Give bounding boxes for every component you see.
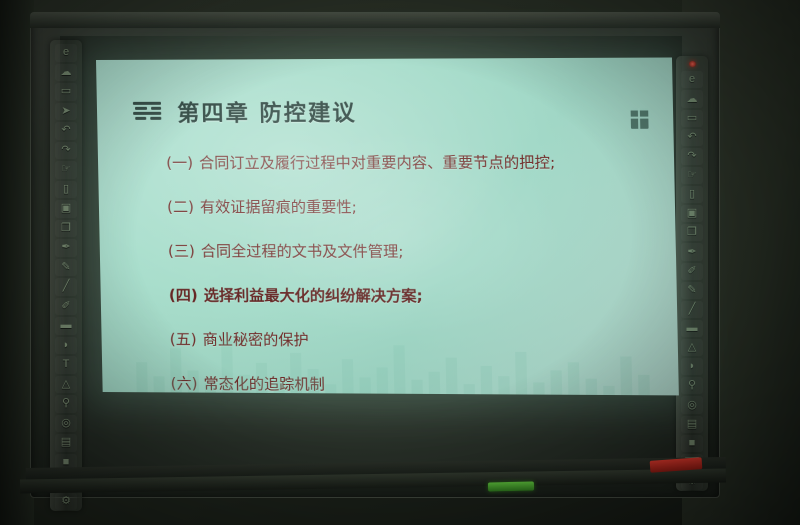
image-frame-icon[interactable]: ▣ (681, 205, 703, 222)
slide-bullet: (二)有效证据留痕的重要性; (167, 196, 655, 217)
curtain-icon[interactable]: ▤ (681, 416, 703, 433)
spotlight-icon[interactable]: ◎ (55, 415, 77, 433)
redo-arrow-icon[interactable]: ↷ (55, 142, 77, 160)
bullet-text: 有效证据留痕的重要性; (200, 196, 357, 217)
bars-mark-icon (133, 101, 164, 123)
seal-stamp-icon (631, 108, 649, 128)
screenshot-icon[interactable]: ❐ (55, 220, 77, 238)
magnifier-icon[interactable]: ⚲ (55, 395, 77, 413)
skyline-bar (429, 372, 441, 394)
skyline-bar (136, 362, 148, 392)
skyline-bar (256, 363, 268, 393)
projected-slide-area: 第四章 防控建议 (一)合同订立及履行过程中对重要内容、重要节点的把控;(二)有… (96, 57, 679, 395)
highlighter-icon[interactable]: ╱ (681, 301, 703, 318)
skyline-bar (153, 376, 164, 392)
skyline-bar (481, 366, 493, 394)
slide-bullet: (一)合同订立及履行过程中对重要内容、重要节点的把控; (166, 151, 654, 173)
settings-gear-icon[interactable]: ⚙ (55, 493, 77, 511)
skyline-bar (325, 384, 336, 393)
bullet-text: 合同全过程的文书及文件管理; (201, 240, 404, 261)
slide-title-row: 第四章 防控建议 (133, 95, 357, 128)
skyline-bar (359, 377, 371, 393)
folder-icon[interactable]: ▭ (55, 83, 77, 101)
skyline-bar (533, 382, 545, 394)
skyline-bar (638, 375, 650, 395)
skyline-bar (446, 358, 458, 394)
power-led-indicator (689, 61, 696, 67)
skyline-bar (411, 380, 423, 394)
paint-bucket-icon[interactable]: ◗ (681, 358, 703, 375)
skyline-bar (620, 356, 632, 395)
skyline-bar (308, 369, 320, 393)
whiteboard-frame-top (30, 12, 720, 28)
shapes-icon[interactable]: △ (681, 339, 703, 356)
slide-bullet: (三)合同全过程的文书及文件管理; (168, 240, 656, 262)
skyline-bar (376, 367, 388, 393)
room-wall-left (0, 0, 34, 525)
skyline-bar (464, 384, 475, 394)
magnifier-icon[interactable]: ⚲ (681, 377, 703, 394)
hand-pointer-icon[interactable]: ☞ (681, 167, 703, 184)
eraser-icon[interactable]: ▬ (681, 320, 703, 337)
skyline-bar (586, 379, 598, 395)
skyline-bar (221, 341, 233, 393)
classroom-whiteboard-scene: e☁▭➤↶↷☞▯▣❐✒✎╱✐▬◗T△⚲◎▤■⌨⚙ e☁▭↶↷☞▯▣❐✒✐✎╱▬△… (0, 0, 800, 525)
slide-title: 第四章 防控建议 (177, 95, 357, 128)
undo-arrow-icon[interactable]: ↶ (681, 129, 703, 146)
bullet-index: (一) (166, 152, 193, 173)
right-icon-toolbar[interactable]: e☁▭↶↷☞▯▣❐✒✐✎╱▬△◗⚲◎▤■⌨⚙ (676, 56, 708, 491)
skyline-bar (205, 384, 216, 393)
undo-arrow-icon[interactable]: ↶ (55, 122, 77, 140)
page-icon[interactable]: ▯ (681, 186, 703, 203)
skyline-bar (568, 362, 580, 395)
bullet-index: (四) (169, 284, 198, 305)
pen-icon[interactable]: ✒ (681, 243, 703, 260)
screenshot-icon[interactable]: ❐ (681, 224, 703, 241)
cloud-upload-icon[interactable]: ☁ (55, 64, 77, 82)
city-skyline-watermark (135, 330, 666, 395)
image-frame-icon[interactable]: ▣ (55, 200, 77, 218)
spotlight-icon[interactable]: ◎ (681, 396, 703, 413)
highlighter-icon[interactable]: ╱ (55, 278, 77, 296)
bullet-index: (二) (167, 196, 194, 217)
shapes-icon[interactable]: △ (55, 376, 77, 394)
paint-bucket-icon[interactable]: ◗ (55, 337, 77, 355)
bullet-text: 选择利益最大化的纠纷解决方案; (204, 284, 423, 306)
skyline-bar (603, 386, 615, 395)
mouse-cursor-icon[interactable]: ➤ (55, 103, 77, 121)
skyline-bar (239, 375, 250, 393)
presentation-slide: 第四章 防控建议 (一)合同订立及履行过程中对重要内容、重要节点的把控;(二)有… (96, 57, 679, 395)
browser-e-icon[interactable]: e (681, 71, 703, 88)
skyline-bar (498, 376, 510, 394)
skyline-bar (273, 381, 284, 393)
skyline-bar (290, 353, 302, 393)
left-icon-toolbar[interactable]: e☁▭➤↶↷☞▯▣❐✒✎╱✐▬◗T△⚲◎▤■⌨⚙ (50, 40, 82, 511)
cloud-upload-icon[interactable]: ☁ (681, 90, 703, 107)
skyline-bar (187, 370, 199, 392)
skyline-bar (550, 370, 562, 394)
skyline-bar (342, 359, 354, 393)
pencil-icon[interactable]: ✎ (681, 282, 703, 299)
skyline-bar (170, 348, 182, 392)
text-tool-icon[interactable]: T (55, 356, 77, 374)
green-marker[interactable] (488, 482, 534, 492)
camera-icon[interactable]: ■ (681, 435, 703, 452)
browser-e-icon[interactable]: e (55, 44, 77, 62)
skyline-bar (393, 345, 405, 394)
brush-icon[interactable]: ✐ (681, 263, 703, 280)
redo-arrow-icon[interactable]: ↷ (681, 148, 703, 165)
pen-icon[interactable]: ✒ (55, 239, 77, 257)
brush-icon[interactable]: ✐ (55, 298, 77, 316)
hand-pointer-icon[interactable]: ☞ (55, 161, 77, 179)
page-icon[interactable]: ▯ (55, 181, 77, 199)
curtain-icon[interactable]: ▤ (55, 434, 77, 452)
folder-icon[interactable]: ▭ (681, 110, 703, 127)
eraser-icon[interactable]: ▬ (55, 317, 77, 335)
pencil-icon[interactable]: ✎ (55, 259, 77, 277)
bullet-index: (三) (168, 240, 195, 261)
bullet-text: 合同订立及履行过程中对重要内容、重要节点的把控; (199, 151, 556, 173)
skyline-bar (515, 352, 527, 395)
slide-bullet: (四)选择利益最大化的纠纷解决方案; (169, 284, 657, 307)
